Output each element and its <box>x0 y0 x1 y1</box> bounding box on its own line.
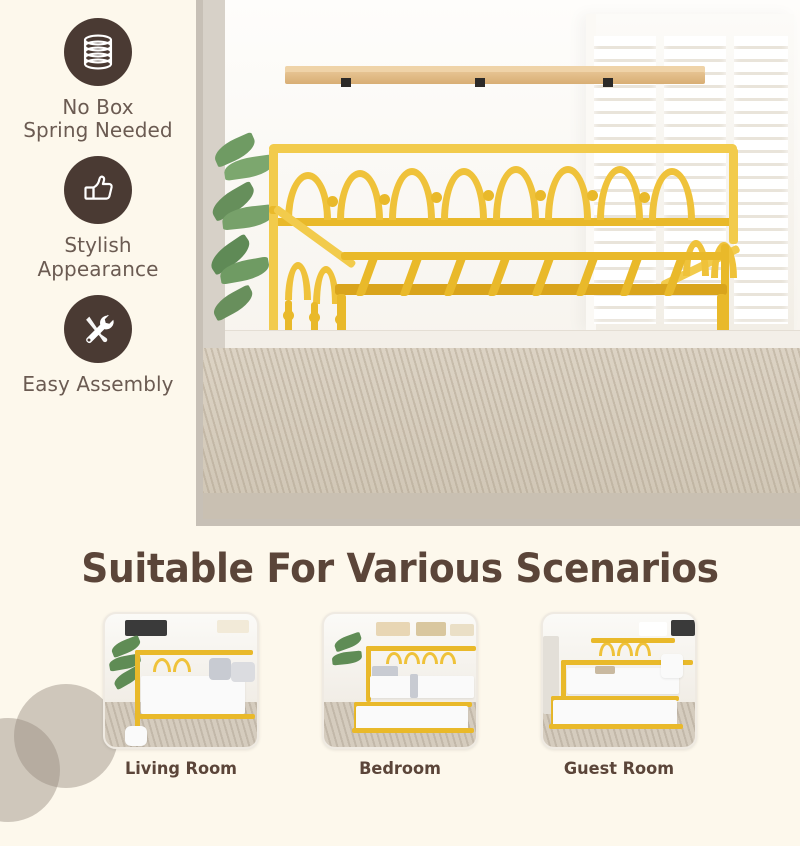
right-post <box>729 148 738 244</box>
feature-list: No Box Spring Needed Stylish Appearance <box>0 18 196 410</box>
ledge-bracket <box>603 78 613 87</box>
feature-item-no-box-spring: No Box Spring Needed <box>0 18 196 142</box>
feature-label: Stylish Appearance <box>0 234 196 280</box>
scenario-thumbnails: Living Room <box>0 612 800 779</box>
left-post <box>269 148 278 348</box>
wrench-screwdriver-icon <box>64 295 132 363</box>
thumbs-up-icon <box>64 156 132 224</box>
feature-label: Easy Assembly <box>0 373 196 396</box>
page-title: Suitable For Various Scenarios <box>24 546 776 592</box>
ledge-bracket <box>475 78 485 87</box>
scenario-label: Living Room <box>107 759 255 779</box>
scenario-bedroom[interactable]: Bedroom <box>322 612 478 779</box>
hero-scene <box>203 0 800 519</box>
scenario-living-room[interactable]: Living Room <box>103 612 259 779</box>
scenario-thumbnail-image[interactable] <box>103 612 259 749</box>
feature-item-stylish-appearance: Stylish Appearance <box>0 156 196 280</box>
feature-hero-section: No Box Spring Needed Stylish Appearance <box>0 0 800 534</box>
scenario-thumbnail-image[interactable] <box>322 612 478 749</box>
scenario-guest-room[interactable]: Guest Room <box>541 612 697 779</box>
feature-item-easy-assembly: Easy Assembly <box>0 295 196 396</box>
scenario-label: Guest Room <box>545 759 693 779</box>
feature-label: No Box Spring Needed <box>0 96 196 142</box>
hero-product-image <box>196 0 800 526</box>
seat-back-rail <box>341 252 723 260</box>
coil-spring-icon <box>64 18 132 86</box>
scenario-label: Bedroom <box>326 759 474 779</box>
floor <box>203 493 800 519</box>
scenario-thumbnail-image[interactable] <box>541 612 697 749</box>
ledge-bracket <box>341 78 351 87</box>
backrest-top-rail <box>269 144 737 153</box>
